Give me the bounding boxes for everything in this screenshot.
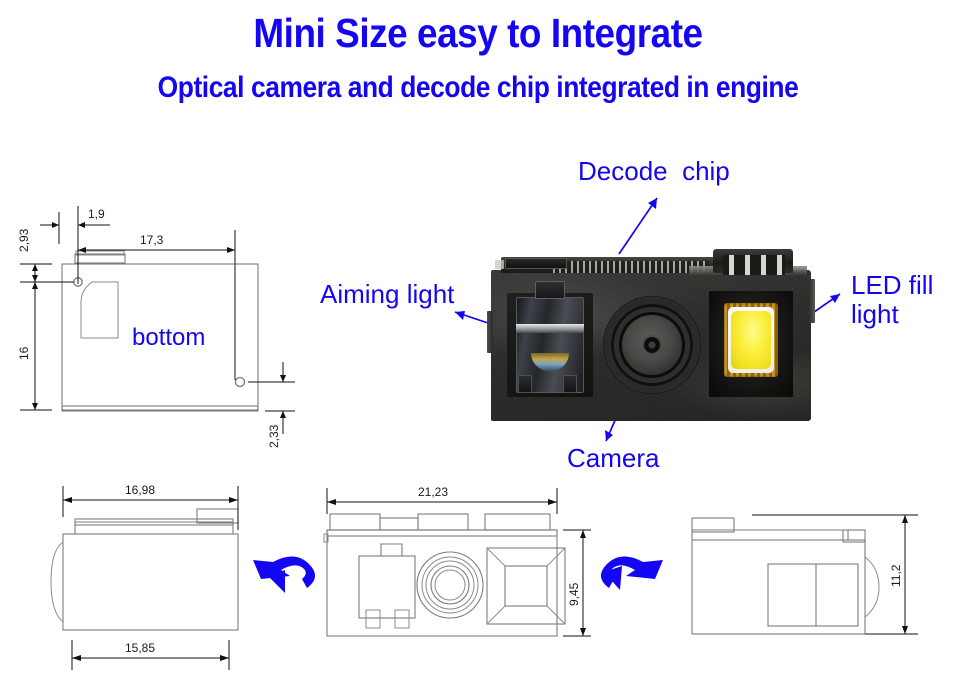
housing-left-tab: [487, 311, 493, 353]
slide-canvas: Mini Size easy to Integrate Optical came…: [0, 0, 956, 685]
callout-led-fill-light: LED fill light: [851, 271, 951, 329]
dim-16: 16: [17, 346, 31, 360]
decode-chip-leader: [619, 198, 657, 254]
dim-21-23: 21,23: [418, 485, 448, 499]
housing-right-tab: [809, 279, 815, 323]
decode-chip-pads: [553, 261, 709, 273]
callout-camera: Camera: [567, 444, 659, 473]
dim-15-85: 15,85: [125, 641, 155, 655]
decode-chip: [505, 258, 567, 269]
aiming-prism-foot-right: [563, 375, 577, 393]
dim-11-2: 11,2: [889, 564, 903, 587]
bottom-view-drawing: 1,9 17,3 2,93 16: [0, 192, 310, 452]
callout-aiming-light: Aiming light: [320, 280, 454, 309]
aiming-prism-tab: [535, 281, 565, 299]
dim-2-33: 2,33: [267, 424, 281, 448]
dim-2-93: 2,93: [17, 228, 31, 252]
side-view-drawing: 16,98 15,85: [45, 472, 295, 677]
camera-aperture: [644, 337, 660, 353]
page-subtitle: Optical camera and decode chip integrate…: [57, 71, 898, 105]
led-emitter: [731, 311, 771, 369]
aiming-prism-foot-left: [518, 375, 532, 393]
bottom-view-label: bottom: [132, 324, 205, 352]
dim-17-3: 17,3: [140, 233, 164, 247]
front-view-drawing: 21,23 9,45: [305, 472, 595, 677]
connector-pins: [723, 255, 785, 275]
aiming-prism-band: [516, 324, 584, 333]
dim-9-45: 9,45: [567, 582, 581, 606]
page-title: Mini Size easy to Integrate: [48, 10, 908, 57]
barcode-scan-engine-photo: [491, 249, 811, 421]
dim-1-9: 1,9: [88, 207, 105, 221]
dim-16-98: 16,98: [125, 483, 155, 497]
rear-view-drawing: 11,2: [640, 472, 930, 677]
callout-decode-chip: Decode chip: [578, 157, 730, 186]
smd-component: [495, 260, 504, 269]
